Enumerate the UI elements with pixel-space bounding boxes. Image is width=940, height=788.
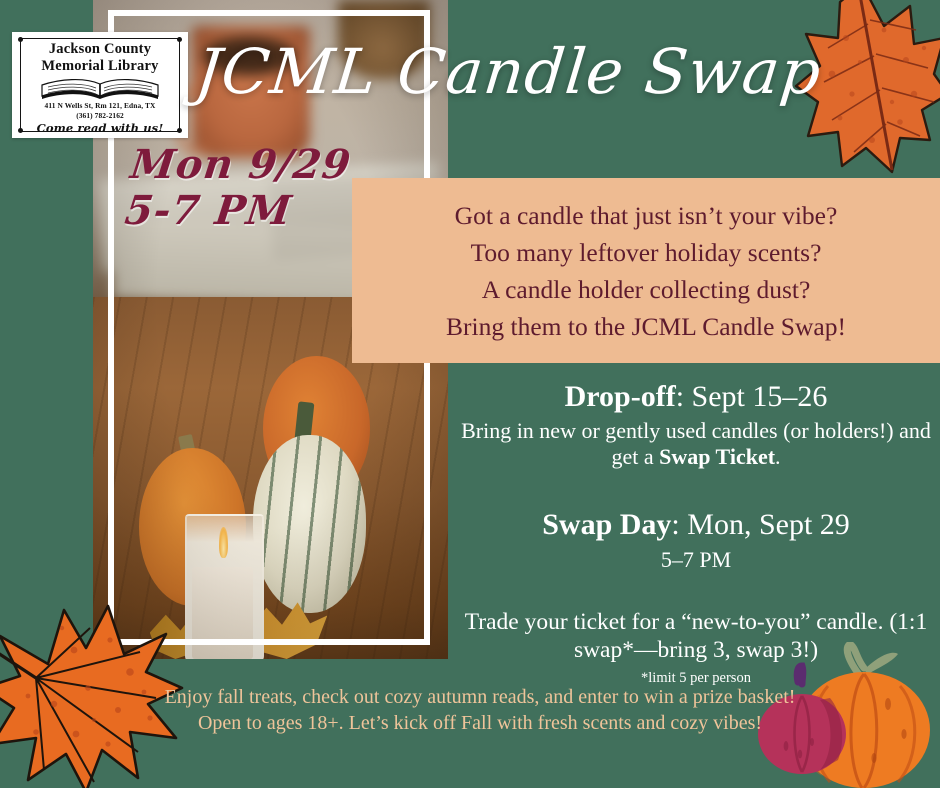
swapday-block: Swap Day: Mon, Sept 29 5–7 PM bbox=[452, 506, 940, 574]
event-date-line1: Mon 9/29 bbox=[128, 142, 364, 188]
dropoff-sub-post: . bbox=[775, 444, 781, 469]
dropoff-subtext: Bring in new or gently used candles (or … bbox=[452, 418, 940, 470]
logo-tagline: Come read with us! bbox=[12, 121, 188, 135]
prompt-line-1: Got a candle that just isn’t your vibe? bbox=[366, 197, 926, 234]
footer-line-2: Open to ages 18+. Let’s kick off Fall wi… bbox=[150, 710, 810, 736]
footer-line-1: Enjoy fall treats, check out cozy autumn… bbox=[150, 684, 810, 710]
dropoff-value: Sept 15–26 bbox=[692, 380, 828, 413]
prompt-line-2: Too many leftover holiday scents? bbox=[366, 234, 926, 271]
library-logo: Jackson County Memorial Library 411 N We… bbox=[12, 32, 188, 138]
event-date-line2: 5-7 PM bbox=[122, 188, 358, 234]
prompt-line-4: Bring them to the JCML Candle Swap! bbox=[366, 308, 926, 345]
prompt-line-3: A candle holder collecting dust? bbox=[366, 271, 926, 308]
poster-canvas: Jackson County Memorial Library 411 N We… bbox=[0, 0, 940, 788]
swap-ticket-label: Swap Ticket bbox=[659, 444, 775, 469]
swapday-time: 5–7 PM bbox=[452, 546, 940, 574]
page-title: JCML Candle Swap bbox=[191, 26, 841, 118]
event-date-script: Mon 9/29 5-7 PM bbox=[122, 142, 363, 234]
footer-note: Enjoy fall treats, check out cozy autumn… bbox=[150, 684, 810, 736]
dropoff-block: Drop-off: Sept 15–26 Bring in new or gen… bbox=[452, 378, 940, 470]
dropoff-heading: Drop-off: Sept 15–26 bbox=[452, 378, 940, 416]
swapday-heading: Swap Day: Mon, Sept 29 bbox=[452, 506, 940, 544]
details-column: Drop-off: Sept 15–26 Bring in new or gen… bbox=[452, 378, 940, 688]
logo-address: 411 N Wells St, Rm 121, Edna, TX bbox=[12, 101, 188, 110]
swapday-value: Mon, Sept 29 bbox=[687, 508, 850, 541]
swapday-separator: : bbox=[671, 508, 687, 541]
logo-phone: (361) 782-2162 bbox=[12, 111, 188, 120]
open-book-icon bbox=[38, 78, 162, 100]
swapday-label: Swap Day bbox=[542, 508, 671, 541]
prompt-panel: Got a candle that just isn’t your vibe? … bbox=[352, 178, 940, 363]
logo-name-line2: Memorial Library bbox=[12, 58, 188, 75]
trade-block: Trade your ticket for a “new-to-you” can… bbox=[452, 608, 940, 688]
dropoff-label: Drop-off bbox=[565, 380, 676, 413]
trade-text: Trade your ticket for a “new-to-you” can… bbox=[452, 608, 940, 664]
dropoff-separator: : bbox=[676, 380, 692, 413]
logo-name-line1: Jackson County bbox=[12, 41, 188, 58]
